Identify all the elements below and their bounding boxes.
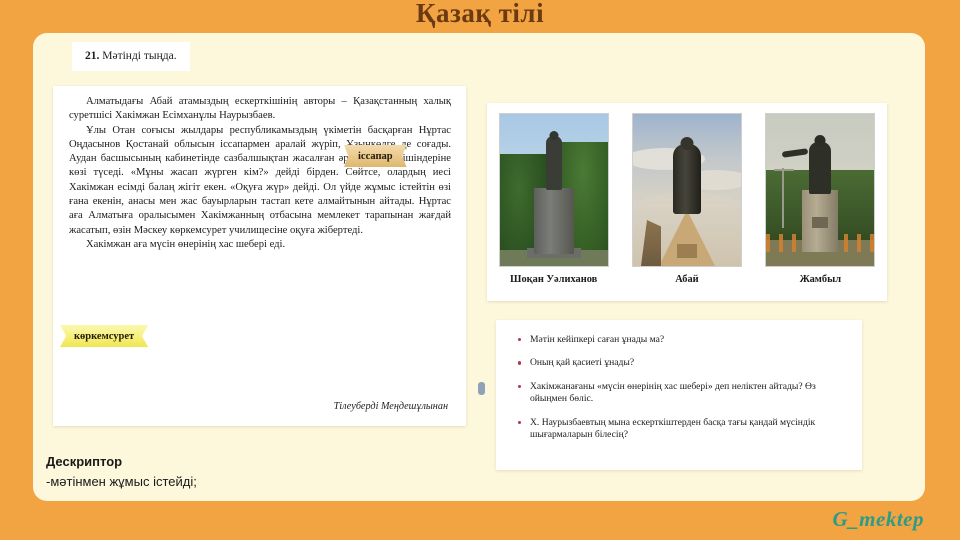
monument-photo-shoqan xyxy=(499,113,609,267)
exercise-header: 21. Мәтінді тыңда. xyxy=(72,42,190,71)
question-text: Х. Наурызбаевтың мына ескерткіштерден ба… xyxy=(530,417,815,440)
statue-figure xyxy=(809,142,831,194)
reading-attribution: Тілеуберді Меңдешұлынан xyxy=(334,401,448,412)
monument-item: Абай xyxy=(631,113,743,285)
question-item: Х. Наурызбаевтың мына ескерткіштерден ба… xyxy=(518,417,844,442)
descriptor-heading: Дескриптор xyxy=(46,452,197,472)
question-text: Хакімжанағаны «мүсін өнерінің хас шебері… xyxy=(530,381,816,404)
statue-head xyxy=(815,135,826,146)
reading-paragraph: Ұлы Отан соғысы жылдары республикамыздың… xyxy=(69,124,451,238)
brand-logo: G_mektep xyxy=(833,507,924,532)
bullet-icon xyxy=(518,338,521,341)
statue-head xyxy=(680,137,693,150)
monument-photo-zhambyl xyxy=(765,113,875,267)
bullet-icon xyxy=(518,361,521,364)
exercise-instruction: Мәтінді тыңда. xyxy=(102,50,176,62)
monument-caption: Шоқан Уәлиханов xyxy=(510,274,597,285)
descriptor-line: -мәтінмен жұмыс істейді; xyxy=(46,472,197,492)
questions-panel: Мәтін кейіпкері саған ұнады ма? Оның қай… xyxy=(496,320,862,470)
reading-paragraph: Хакімжан аға мүсін өнерінің хас шебері е… xyxy=(69,238,451,252)
pedestal-plaque xyxy=(677,244,697,258)
lamp-head-icon xyxy=(774,169,794,171)
monument-photos-panel: Шоқан Уәлиханов Абай xyxy=(487,103,887,301)
bullet-icon xyxy=(518,385,521,388)
monument-item: Шоқан Уәлиханов xyxy=(498,113,610,285)
question-text: Мәтін кейіпкері саған ұнады ма? xyxy=(530,334,664,345)
reading-paragraph: Алматыдағы Абай атамыздың ескерткішінің … xyxy=(69,95,451,124)
vocab-banner-korkemsuret: көркемсурет xyxy=(60,325,148,347)
monument-photo-abay xyxy=(632,113,742,267)
statue-figure xyxy=(673,144,701,214)
lamp-post-icon xyxy=(782,168,784,228)
question-item: Оның қай қасиеті ұнады? xyxy=(518,357,844,369)
reading-text-panel: Алматыдағы Абай атамыздың ескерткішінің … xyxy=(53,86,466,426)
question-item: Хакімжанағаны «мүсін өнерінің хас шебері… xyxy=(518,381,844,406)
question-item: Мәтін кейіпкері саған ұнады ма? xyxy=(518,334,844,346)
bullet-icon xyxy=(518,421,521,424)
monument-caption: Абай xyxy=(675,274,698,285)
pedestal xyxy=(534,188,574,254)
reading-text-body: Алматыдағы Абай атамыздың ескерткішінің … xyxy=(69,95,451,252)
pedestal-plaque xyxy=(812,217,828,228)
descriptor-block: Дескриптор -мәтінмен жұмыс істейді; xyxy=(46,452,197,492)
panel-edge-artifact xyxy=(478,382,485,395)
exercise-number: 21. xyxy=(85,50,99,62)
question-text: Оның қай қасиеті ұнады? xyxy=(530,357,634,368)
monument-caption: Жамбыл xyxy=(800,274,841,285)
statue-figure xyxy=(546,136,562,190)
monument-item: Жамбыл xyxy=(764,113,876,285)
statue-head xyxy=(549,131,558,140)
vocab-banner-issapar: іссапар xyxy=(344,145,407,167)
page-title: Қазақ тілі xyxy=(0,0,960,29)
